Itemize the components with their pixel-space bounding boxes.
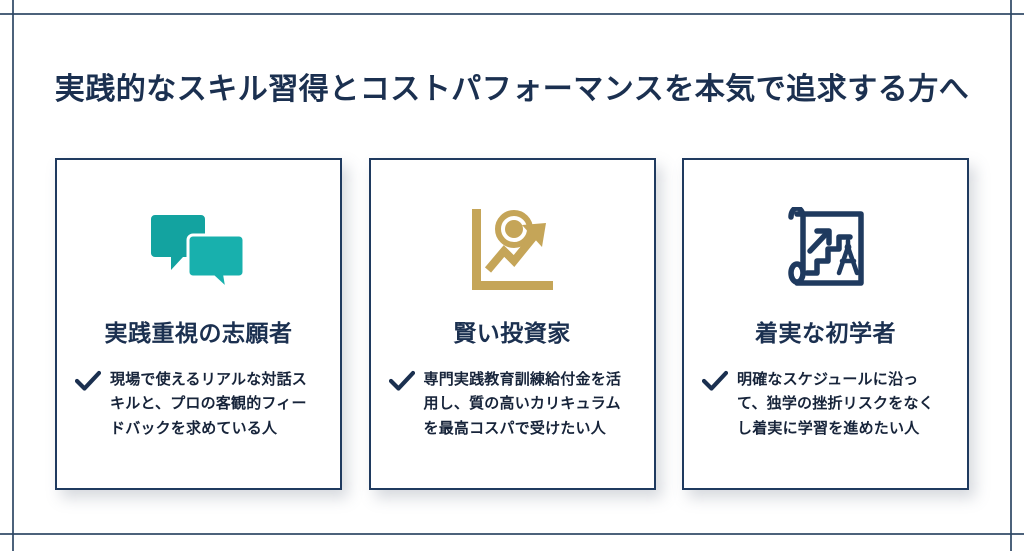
slide-canvas: 実践的なスキル習得とコストパフォーマンスを本気で追求する方へ 実践重視の志願者 … bbox=[0, 0, 1024, 551]
page-title: 実践的なスキル習得とコストパフォーマンスを本気で追求する方へ bbox=[0, 64, 1024, 108]
card-smart-investor[interactable]: 賢い投資家 専門実践教育訓練給付金を活用し、質の高いカリキュラムを最高コスパで受… bbox=[369, 158, 656, 490]
card-description: 明確なスケジュールに沿って、独学の挫折リスクをなくし着実に学習を進めたい人 bbox=[737, 368, 945, 441]
check-icon bbox=[389, 370, 415, 392]
card-title: 賢い投資家 bbox=[453, 314, 571, 348]
card-practical-applicant[interactable]: 実践重視の志願者 現場で使えるリアルな対話スキルと、プロの客観的フィードバックを… bbox=[55, 158, 342, 490]
card-description: 専門実践教育訓練給付金を活用し、質の高いカリキュラムを最高コスパで受けたい人 bbox=[424, 368, 632, 441]
card-row: 実践重視の志願者 現場で使えるリアルな対話スキルと、プロの客観的フィードバックを… bbox=[55, 158, 969, 490]
check-icon bbox=[702, 370, 728, 392]
card-body: 専門実践教育訓練給付金を活用し、質の高いカリキュラムを最高コスパで受けたい人 bbox=[371, 368, 654, 441]
speech-bubbles-icon bbox=[151, 194, 247, 306]
check-icon bbox=[75, 370, 101, 392]
blueprint-compass-icon bbox=[779, 194, 873, 306]
frame-line-bottom bbox=[0, 533, 1024, 535]
card-steady-beginner[interactable]: 着実な初学者 明確なスケジュールに沿って、独学の挫折リスクをなくし着実に学習を進… bbox=[682, 158, 969, 490]
growth-chart-coin-icon bbox=[466, 194, 558, 306]
card-title: 実践重視の志願者 bbox=[105, 314, 293, 348]
card-title: 着実な初学者 bbox=[755, 314, 896, 348]
card-description: 現場で使えるリアルな対話スキルと、プロの客観的フィードバックを求めている人 bbox=[110, 368, 318, 441]
card-body: 現場で使えるリアルな対話スキルと、プロの客観的フィードバックを求めている人 bbox=[57, 368, 340, 441]
frame-line-top bbox=[0, 13, 1024, 15]
card-body: 明確なスケジュールに沿って、独学の挫折リスクをなくし着実に学習を進めたい人 bbox=[684, 368, 967, 441]
